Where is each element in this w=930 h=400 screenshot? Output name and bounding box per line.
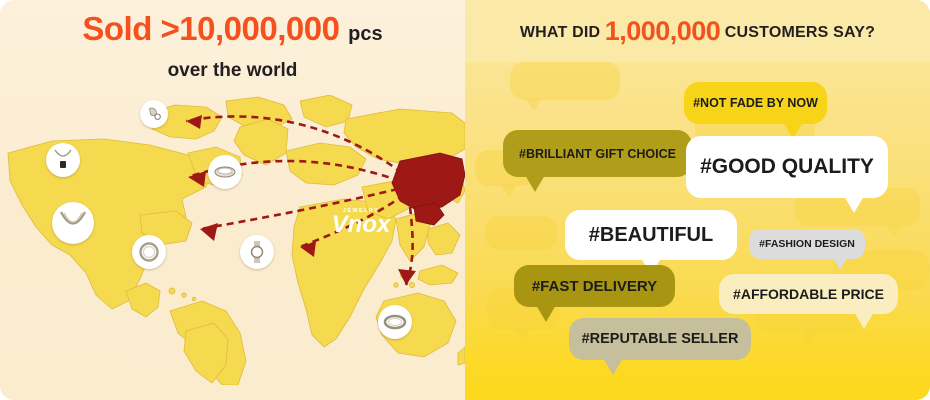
header-customer-count: 1,000,000 [605, 16, 721, 46]
testimonials-header: WHAT DID 1,000,000 CUSTOMERS SAY? [465, 16, 930, 47]
bubble-tail [844, 196, 864, 213]
sold-headline-main: Sold >10,000,000 [82, 10, 339, 47]
bubble-label: #BEAUTIFUL [589, 224, 713, 247]
necklace-badge [52, 202, 94, 244]
world-map: JEWELRY Vnox [0, 95, 465, 385]
earrings-badge [140, 100, 168, 128]
sold-subline: over the world [0, 60, 465, 82]
bubble-label: #FASHION DESIGN [759, 238, 855, 250]
testimonials-header-band: WHAT DID 1,000,000 CUSTOMERS SAY? [465, 0, 930, 62]
bubble-reputable-seller[interactable]: #REPUTABLE SELLER [569, 318, 751, 360]
bubble-beautiful[interactable]: #BEAUTIFUL [565, 210, 737, 260]
bangle-bracelet-icon [138, 241, 160, 263]
header-pre-text: WHAT DID [520, 24, 600, 41]
bubble-tail [603, 358, 623, 375]
sold-headline-unit: pcs [348, 23, 382, 45]
bubble-tail [854, 312, 874, 329]
header-post-text: CUSTOMERS SAY? [725, 24, 875, 41]
ghost-bubble-1 [510, 62, 620, 100]
bubble-label: #AFFORDABLE PRICE [733, 286, 884, 302]
bubble-label: #NOT FADE BY NOW [693, 96, 818, 110]
watch-icon [248, 240, 266, 264]
bracelet-badge [132, 235, 166, 269]
bubble-label: #GOOD QUALITY [700, 155, 874, 179]
bubble-affordable-price[interactable]: #AFFORDABLE PRICE [719, 274, 898, 314]
earrings-icon [145, 105, 163, 123]
bubble-label: #BRILLIANT GIFT CHOICE [519, 147, 676, 161]
sold-headline: Sold >10,000,000 pcs [0, 10, 465, 48]
ghost-bubble-4 [485, 216, 557, 250]
bubble-fast-delivery[interactable]: #FAST DELIVERY [514, 265, 675, 307]
left-panel-world-map: Sold >10,000,000 pcs over the world [0, 0, 465, 400]
chain-necklace-icon [58, 209, 88, 237]
ring-icon [383, 313, 407, 331]
bubble-good-quality[interactable]: #GOOD QUALITY [686, 136, 888, 198]
right-panel-testimonials: WHAT DID 1,000,000 CUSTOMERS SAY? #NOT F… [465, 0, 930, 400]
cuff-bracelet-icon [213, 164, 237, 180]
bubble-tail [536, 305, 556, 322]
bubble-not-fade-by-now[interactable]: #NOT FADE BY NOW [684, 82, 827, 124]
promo-banner: Sold >10,000,000 pcs over the world [0, 0, 930, 400]
ring-badge [378, 305, 412, 339]
watch-badge [240, 235, 274, 269]
bubble-label: #FAST DELIVERY [532, 278, 657, 295]
vnox-brand-logo: JEWELRY Vnox [322, 199, 400, 239]
bubble-brilliant-gift-choice[interactable]: #BRILLIANT GIFT CHOICE [503, 130, 692, 177]
bubble-fashion-design[interactable]: #FASHION DESIGN [749, 229, 865, 259]
bubble-tail [525, 175, 545, 192]
cuff-badge [208, 155, 242, 189]
pendant-necklace-icon [52, 148, 74, 172]
bubble-tail [833, 258, 847, 270]
origin-country-china [392, 153, 465, 225]
vnox-brand-name: Vnox [332, 211, 392, 238]
pendant-badge [46, 143, 80, 177]
bubble-label: #REPUTABLE SELLER [582, 331, 739, 347]
